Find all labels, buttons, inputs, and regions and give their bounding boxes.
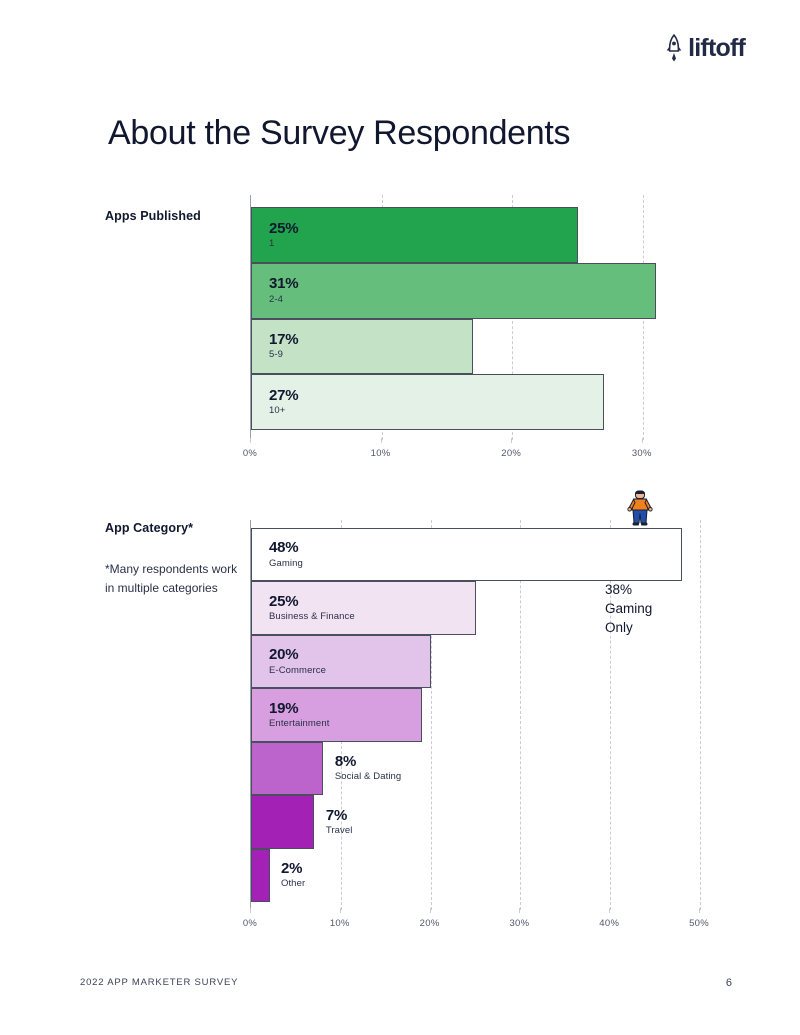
axis-tick-mark [699,908,700,913]
gridline [700,520,701,910]
callout-line-3: Only [605,618,652,637]
liftoff-logo: liftoff [664,33,745,63]
bar-e-commerce: 20%E-Commerce [251,635,431,688]
bar-category-label: 5-9 [269,349,472,361]
bar-value-label: 7% [326,807,353,824]
bar-category-label: Business & Finance [269,611,475,623]
bar-1: 25%1 [251,207,578,263]
callout-line-2: Gaming [605,599,652,618]
rocket-icon [664,33,684,63]
axis-tick-label: 30% [632,448,652,459]
footer-survey-name: 2022 APP MARKETER SURVEY [80,977,238,988]
bar-other [251,849,270,902]
bar-category-label: 1 [269,238,577,250]
axis-tick-label: 20% [501,448,521,459]
page-title: About the Survey Respondents [108,114,570,153]
bar-category-label: Social & Dating [335,771,401,783]
axis-tick-label: 10% [371,448,391,459]
gaming-only-callout: 38% Gaming Only [605,580,652,637]
chart-label-apps-published: Apps Published [105,209,255,223]
bar-category-label: E-Commerce [269,665,430,677]
axis-tick-label: 30% [509,918,529,929]
logo-wordmark: liftoff [688,36,745,61]
bar-category-label: Other [281,878,305,890]
chart-app-category: App Category* *Many respondents work in … [105,495,745,945]
axis-tick-mark [250,438,251,443]
bar-value-label: 27% [269,387,603,404]
chart-apps-published: Apps Published 25%131%2-417%5-927%10+ 0%… [105,195,705,465]
bar-value-label: 20% [269,646,430,663]
bar-category-label: Travel [326,825,353,837]
bar-business-finance: 25%Business & Finance [251,581,476,634]
bar-value-label: 25% [269,220,577,237]
axis-tick-mark [511,438,512,443]
bar-value-label: 8% [335,753,401,770]
bar-value-label: 2% [281,860,305,877]
bar-category-label: 10+ [269,405,603,417]
chart-note-app-category: *Many respondents work in multiple categ… [105,560,245,597]
bar-value-label: 17% [269,331,472,348]
bar-value-label: 25% [269,593,475,610]
x-axis-app-category: 0%10%20%30%40%50% [250,913,725,933]
bar-value-label: 19% [269,700,421,717]
axis-tick-label: 20% [420,918,440,929]
bar-travel [251,795,314,848]
axis-tick-label: 50% [689,918,709,929]
plot-area-app-category: 48%Gaming25%Business & Finance20%E-Comme… [250,520,726,910]
bar-gaming: 48%Gaming [251,528,682,581]
bar-category-label: 2-4 [269,294,655,306]
axis-tick-mark [519,908,520,913]
callout-line-1: 38% [605,580,652,599]
bar-outside-label: 8%Social & Dating [335,742,401,795]
x-axis-apps-published: 0%10%20%30% [250,443,680,463]
bar-outside-label: 7%Travel [326,795,353,848]
axis-tick-label: 10% [330,918,350,929]
bar-entertainment: 19%Entertainment [251,688,422,741]
bar-2-4: 31%2-4 [251,263,656,319]
bar-5-9: 17%5-9 [251,319,473,375]
axis-tick-mark [250,908,251,913]
axis-tick-mark [340,908,341,913]
axis-tick-label: 0% [243,448,257,459]
axis-tick-mark [381,438,382,443]
footer-page-number: 6 [726,977,732,989]
bar-10-: 27%10+ [251,374,604,430]
bar-social-dating [251,742,323,795]
bar-category-label: Entertainment [269,718,421,730]
bar-category-label: Gaming [269,558,681,570]
axis-tick-label: 0% [243,918,257,929]
bar-value-label: 31% [269,275,655,292]
axis-tick-mark [642,438,643,443]
plot-area-apps-published: 25%131%2-417%5-927%10+ [250,195,681,440]
bar-outside-label: 2%Other [281,849,305,902]
axis-tick-label: 40% [599,918,619,929]
bar-value-label: 48% [269,539,681,556]
axis-tick-mark [430,908,431,913]
axis-tick-mark [609,908,610,913]
chart-label-app-category: App Category* [105,521,255,535]
